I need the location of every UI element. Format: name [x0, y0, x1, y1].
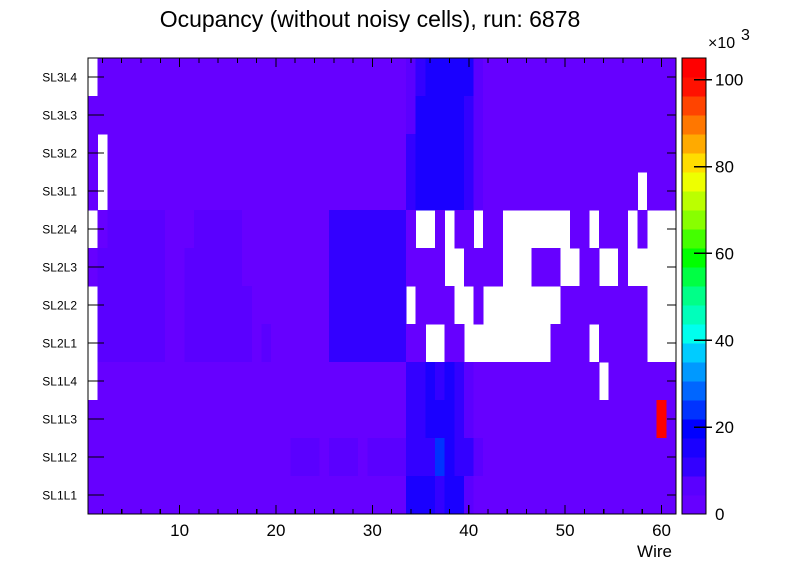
- heatmap-cell: [387, 58, 397, 96]
- heatmap-cell: [175, 134, 185, 172]
- heatmap-cell: [271, 210, 281, 248]
- heatmap-cell: [570, 210, 580, 248]
- heatmap-cell: [204, 362, 214, 400]
- heatmap-cell: [358, 96, 368, 134]
- heatmap-cell: [117, 134, 127, 172]
- heatmap-cell: [107, 58, 117, 96]
- heatmap-cell: [271, 362, 281, 400]
- heatmap-cell: [117, 58, 127, 96]
- heatmap-cell: [300, 210, 310, 248]
- heatmap-cell: [319, 248, 329, 286]
- heatmap-cell: [522, 58, 532, 96]
- heatmap-cell: [551, 324, 561, 362]
- heatmap-cell: [512, 58, 522, 96]
- heatmap-cell: [560, 134, 570, 172]
- heatmap-cell: [474, 134, 484, 172]
- heatmap-cell: [155, 134, 165, 172]
- heatmap-cell: [339, 248, 349, 286]
- heatmap-cell: [425, 58, 435, 96]
- heatmap-cell: [416, 362, 426, 400]
- colorbar-band: [682, 229, 706, 248]
- heatmap-cell: [127, 362, 137, 400]
- heatmap-cell: [570, 134, 580, 172]
- heatmap-cell: [435, 476, 445, 514]
- heatmap-cell: [319, 400, 329, 438]
- heatmap-cell: [531, 400, 541, 438]
- heatmap-cell: [136, 172, 146, 210]
- heatmap-cell: [609, 324, 619, 362]
- heatmap-cell: [348, 248, 358, 286]
- heatmap-cell: [175, 324, 185, 362]
- heatmap-cell: [348, 96, 358, 134]
- heatmap-cell: [502, 476, 512, 514]
- heatmap-cell: [657, 362, 667, 400]
- heatmap-cell: [416, 172, 426, 210]
- heatmap-cell: [637, 96, 647, 134]
- heatmap-cell: [493, 438, 503, 476]
- heatmap-cell: [223, 210, 233, 248]
- heatmap-cell: [589, 362, 599, 400]
- heatmap-cell: [551, 172, 561, 210]
- heatmap-cell: [377, 476, 387, 514]
- heatmap-cell: [580, 438, 590, 476]
- heatmap-cell: [425, 286, 435, 324]
- heatmap-cell: [146, 476, 156, 514]
- heatmap-cell: [493, 210, 503, 248]
- heatmap-cell: [396, 134, 406, 172]
- heatmap-cell: [464, 172, 474, 210]
- heatmap-cell: [560, 400, 570, 438]
- heatmap-cell: [204, 400, 214, 438]
- heatmap-cell: [618, 58, 628, 96]
- heatmap-cell: [165, 438, 175, 476]
- heatmap-cell: [657, 438, 667, 476]
- heatmap-cell: [580, 286, 590, 324]
- heatmap-cell: [531, 476, 541, 514]
- heatmap-cell: [435, 248, 445, 286]
- heatmap-cell: [396, 400, 406, 438]
- heatmap-cell: [657, 96, 667, 134]
- heatmap-cell: [512, 476, 522, 514]
- heatmap-cell: [252, 96, 262, 134]
- heatmap-cell: [175, 210, 185, 248]
- heatmap-cell: [242, 172, 252, 210]
- colorbar-band: [682, 400, 706, 419]
- heatmap-cell: [242, 248, 252, 286]
- heatmap-cell: [107, 286, 117, 324]
- heatmap-cell: [339, 172, 349, 210]
- heatmap-cell: [387, 476, 397, 514]
- heatmap-cell: [589, 400, 599, 438]
- heatmap-cell: [339, 362, 349, 400]
- heatmap-cell: [136, 476, 146, 514]
- heatmap-cell: [339, 96, 349, 134]
- heatmap-cell: [541, 172, 551, 210]
- heatmap-cell: [435, 210, 445, 248]
- heatmap-cell: [194, 476, 204, 514]
- heatmap-cell: [165, 172, 175, 210]
- heatmap-cell: [396, 58, 406, 96]
- heatmap-cell: [262, 134, 272, 172]
- heatmap-cell: [213, 438, 223, 476]
- heatmap-cell: [155, 438, 165, 476]
- heatmap-cell: [637, 134, 647, 172]
- heatmap-cell: [474, 248, 484, 286]
- colorbar-band: [682, 381, 706, 400]
- heatmap-cell: [454, 58, 464, 96]
- heatmap-cell: [368, 172, 378, 210]
- heatmap-cell: [348, 400, 358, 438]
- heatmap-cell: [184, 248, 194, 286]
- heatmap-cell: [628, 476, 638, 514]
- heatmap-cell: [339, 438, 349, 476]
- heatmap-cell: [445, 134, 455, 172]
- heatmap-cell: [262, 210, 272, 248]
- heatmap-cell: [358, 400, 368, 438]
- heatmap-cell: [319, 134, 329, 172]
- heatmap-cell: [242, 96, 252, 134]
- colorbar-tick-label: 0: [715, 505, 724, 524]
- heatmap-cell: [136, 210, 146, 248]
- heatmap-cell: [290, 438, 300, 476]
- heatmap-cell: [155, 172, 165, 210]
- heatmap-cell: [242, 362, 252, 400]
- heatmap-cell: [560, 172, 570, 210]
- heatmap-cell: [155, 248, 165, 286]
- heatmap-cell: [570, 400, 580, 438]
- heatmap-cell: [358, 248, 368, 286]
- heatmap-cell: [377, 210, 387, 248]
- heatmap-cell: [416, 134, 426, 172]
- heatmap-cell: [425, 134, 435, 172]
- heatmap-cell: [522, 172, 532, 210]
- heatmap-cell: [242, 286, 252, 324]
- heatmap-cell: [290, 324, 300, 362]
- heatmap-cell: [618, 476, 628, 514]
- heatmap-cell: [290, 58, 300, 96]
- heatmap-cell: [464, 248, 474, 286]
- heatmap-cell: [435, 172, 445, 210]
- heatmap-cell: [136, 400, 146, 438]
- heatmap-cell: [136, 286, 146, 324]
- heatmap-cell: [339, 324, 349, 362]
- heatmap-cell: [300, 438, 310, 476]
- heatmap-cell: [502, 96, 512, 134]
- colorbar-band: [682, 191, 706, 210]
- heatmap-cell: [589, 248, 599, 286]
- heatmap-cell: [618, 438, 628, 476]
- heatmap-cell: [271, 248, 281, 286]
- heatmap-cell: [262, 248, 272, 286]
- heatmap-cell: [425, 476, 435, 514]
- heatmap-cell: [213, 58, 223, 96]
- heatmap-cell: [531, 172, 541, 210]
- heatmap-cell: [560, 324, 570, 362]
- heatmap-cell: [184, 324, 194, 362]
- heatmap-cell: [281, 400, 291, 438]
- heatmap-cell: [233, 286, 243, 324]
- heatmap-cell: [127, 172, 137, 210]
- heatmap-cell: [368, 400, 378, 438]
- heatmap-cell: [175, 286, 185, 324]
- heatmap-cell: [618, 400, 628, 438]
- heatmap-cell: [609, 286, 619, 324]
- heatmap-cell: [454, 476, 464, 514]
- heatmap-cell: [406, 248, 416, 286]
- heatmap-cell: [647, 172, 657, 210]
- heatmap-cell: [165, 476, 175, 514]
- heatmap-cell: [339, 400, 349, 438]
- heatmap-cell: [531, 58, 541, 96]
- heatmap-cell: [358, 210, 368, 248]
- heatmap-cell: [271, 286, 281, 324]
- y-tick-label: SL2L4: [42, 223, 77, 237]
- heatmap-cell: [647, 400, 657, 438]
- heatmap-cell: [570, 172, 580, 210]
- heatmap-cell: [570, 324, 580, 362]
- heatmap-cell: [262, 286, 272, 324]
- heatmap-cell: [512, 400, 522, 438]
- heatmap-cell: [609, 476, 619, 514]
- heatmap-cell: [474, 362, 484, 400]
- heatmap-cell: [300, 324, 310, 362]
- heatmap-cell: [223, 324, 233, 362]
- heatmap-cell: [570, 438, 580, 476]
- heatmap-cell: [262, 400, 272, 438]
- heatmap-cell: [117, 248, 127, 286]
- heatmap-cell: [175, 172, 185, 210]
- heatmap-cell: [618, 134, 628, 172]
- heatmap-cell: [387, 96, 397, 134]
- y-tick-label: SL3L3: [42, 109, 77, 123]
- colorbar-band: [682, 96, 706, 115]
- heatmap-cell: [580, 324, 590, 362]
- heatmap-cell: [502, 58, 512, 96]
- heatmap-cell: [377, 438, 387, 476]
- heatmap-cell: [339, 210, 349, 248]
- heatmap-cell: [242, 58, 252, 96]
- heatmap-cell: [194, 96, 204, 134]
- heatmap-cell: [599, 476, 609, 514]
- colorbar-band: [682, 305, 706, 324]
- x-tick-label: 10: [170, 521, 189, 540]
- heatmap-cell: [281, 248, 291, 286]
- heatmap-cell: [493, 134, 503, 172]
- colorbar-tick-label: 80: [715, 158, 734, 177]
- heatmap-cell: [609, 400, 619, 438]
- heatmap-cell: [290, 210, 300, 248]
- colorbar-tick-label: 40: [715, 331, 734, 350]
- heatmap-cell: [348, 58, 358, 96]
- heatmap-cell: [127, 58, 137, 96]
- colorbar-tick-label: 100: [715, 71, 743, 90]
- heatmap-cell: [310, 58, 320, 96]
- heatmap-cell: [165, 210, 175, 248]
- heatmap-cell: [233, 248, 243, 286]
- heatmap-cell: [599, 438, 609, 476]
- heatmap-cell: [300, 58, 310, 96]
- heatmap-cell: [165, 324, 175, 362]
- heatmap-cell: [213, 362, 223, 400]
- heatmap-cell: [146, 438, 156, 476]
- heatmap-cell: [319, 476, 329, 514]
- heatmap-cell: [570, 96, 580, 134]
- heatmap-cell: [551, 248, 561, 286]
- heatmap-cell: [348, 134, 358, 172]
- heatmap-cell: [551, 476, 561, 514]
- heatmap-cell: [281, 134, 291, 172]
- heatmap-cell: [329, 400, 339, 438]
- heatmap-cell: [570, 476, 580, 514]
- heatmap-cell: [262, 324, 272, 362]
- colorbar-band: [682, 343, 706, 362]
- colorbar-band: [682, 476, 706, 495]
- heatmap-cell: [637, 362, 647, 400]
- heatmap-cell: [319, 438, 329, 476]
- heatmap-cell: [358, 324, 368, 362]
- heatmap-cell: [194, 362, 204, 400]
- heatmap-cell: [136, 362, 146, 400]
- heatmap-cell: [281, 210, 291, 248]
- heatmap-cell: [146, 96, 156, 134]
- heatmap-cell: [589, 58, 599, 96]
- heatmap-cell: [107, 324, 117, 362]
- heatmap-cell: [127, 248, 137, 286]
- heatmap-cell: [637, 324, 647, 362]
- heatmap-cell: [348, 438, 358, 476]
- y-tick-label: SL2L3: [42, 261, 77, 275]
- heatmap-cell: [368, 96, 378, 134]
- heatmap-cell: [483, 96, 493, 134]
- heatmap-cell: [194, 286, 204, 324]
- heatmap-cell: [609, 58, 619, 96]
- heatmap-cell: [300, 248, 310, 286]
- colorbar-tick-label: 20: [715, 418, 734, 437]
- heatmap-cell: [155, 362, 165, 400]
- heatmap-cell: [204, 438, 214, 476]
- heatmap-cell: [358, 58, 368, 96]
- heatmap-cell: [329, 438, 339, 476]
- heatmap-cell: [416, 248, 426, 286]
- heatmap-cell: [184, 400, 194, 438]
- heatmap-cell: [155, 400, 165, 438]
- colorbar-exponent-superscript: 3: [741, 27, 750, 44]
- heatmap-cell: [184, 286, 194, 324]
- heatmap-cell: [281, 476, 291, 514]
- heatmap-cell: [242, 438, 252, 476]
- heatmap-cell: [368, 248, 378, 286]
- heatmap-cell: [637, 210, 647, 248]
- heatmap-cell: [396, 172, 406, 210]
- heatmap-cell: [358, 172, 368, 210]
- heatmap-cell: [396, 476, 406, 514]
- y-tick-label: SL3L4: [42, 71, 77, 85]
- heatmap-cell: [454, 362, 464, 400]
- y-tick-label: SL3L2: [42, 147, 77, 161]
- heatmap-cell: [522, 134, 532, 172]
- x-tick-label: 60: [652, 521, 671, 540]
- heatmap-svg: 102030405060Wire SL3L4SL3L3SL3L2SL3L1SL2…: [0, 0, 796, 572]
- heatmap-cell: [107, 134, 117, 172]
- heatmap-cell: [435, 96, 445, 134]
- heatmap-cell: [416, 286, 426, 324]
- heatmap-cell: [117, 476, 127, 514]
- heatmap-cell: [570, 58, 580, 96]
- heatmap-cell: [531, 96, 541, 134]
- heatmap-cell: [233, 58, 243, 96]
- heatmap-cell: [599, 96, 609, 134]
- color-bar[interactable]: 020406080100×103: [682, 27, 750, 524]
- heatmap-cell: [117, 286, 127, 324]
- heatmap-cell: [609, 362, 619, 400]
- heatmap-cell: [136, 134, 146, 172]
- heatmap-cell: [329, 172, 339, 210]
- heatmap-cell: [136, 438, 146, 476]
- heatmap-cell: [406, 134, 416, 172]
- heatmap-cell: [425, 362, 435, 400]
- heatmap-cell: [618, 362, 628, 400]
- heatmap-cell: [628, 324, 638, 362]
- heatmap-cell: [223, 134, 233, 172]
- heatmap-cell: [310, 172, 320, 210]
- heatmap-cell: [194, 58, 204, 96]
- heatmap-cell: [483, 400, 493, 438]
- heatmap-cell: [223, 476, 233, 514]
- heatmap-cell: [204, 58, 214, 96]
- heatmap-cell: [580, 96, 590, 134]
- heatmap-cell: [233, 210, 243, 248]
- heatmap-cell: [618, 96, 628, 134]
- heatmap-cell: [425, 172, 435, 210]
- heatmap-cell: [589, 172, 599, 210]
- y-tick-label: SL2L2: [42, 299, 77, 313]
- heatmap-cell: [599, 400, 609, 438]
- heatmap-cell: [233, 324, 243, 362]
- heatmap-cell: [194, 134, 204, 172]
- heatmap-cell: [464, 134, 474, 172]
- heatmap-cell: [464, 438, 474, 476]
- heatmap-cell: [252, 476, 262, 514]
- heatmap-cell: [647, 58, 657, 96]
- heatmap-cell: [213, 476, 223, 514]
- heatmap-cell: [223, 438, 233, 476]
- heatmap-cell: [319, 58, 329, 96]
- heatmap-cell: [377, 96, 387, 134]
- heatmap-cell: [522, 400, 532, 438]
- heatmap-cell: [387, 362, 397, 400]
- heatmap-cell: [580, 400, 590, 438]
- heatmap-cell: [493, 96, 503, 134]
- heatmap-cell: [290, 286, 300, 324]
- heatmap-cell: [647, 134, 657, 172]
- heatmap-cell: [628, 58, 638, 96]
- heatmap-cell: [396, 96, 406, 134]
- y-tick-label: SL1L2: [42, 451, 77, 465]
- heatmap-cell: [396, 324, 406, 362]
- heatmap-cell: [522, 476, 532, 514]
- heatmap-cell: [637, 286, 647, 324]
- heatmap-cell: [483, 438, 493, 476]
- heatmap-cell: [474, 96, 484, 134]
- heatmap-cell: [560, 286, 570, 324]
- heatmap-cell: [445, 400, 455, 438]
- heatmap-cell: [348, 210, 358, 248]
- heatmap-cell: [310, 134, 320, 172]
- heatmap-cell: [165, 286, 175, 324]
- heatmap-cell: [512, 172, 522, 210]
- heatmap-cell: [348, 172, 358, 210]
- heatmap-cell: [329, 210, 339, 248]
